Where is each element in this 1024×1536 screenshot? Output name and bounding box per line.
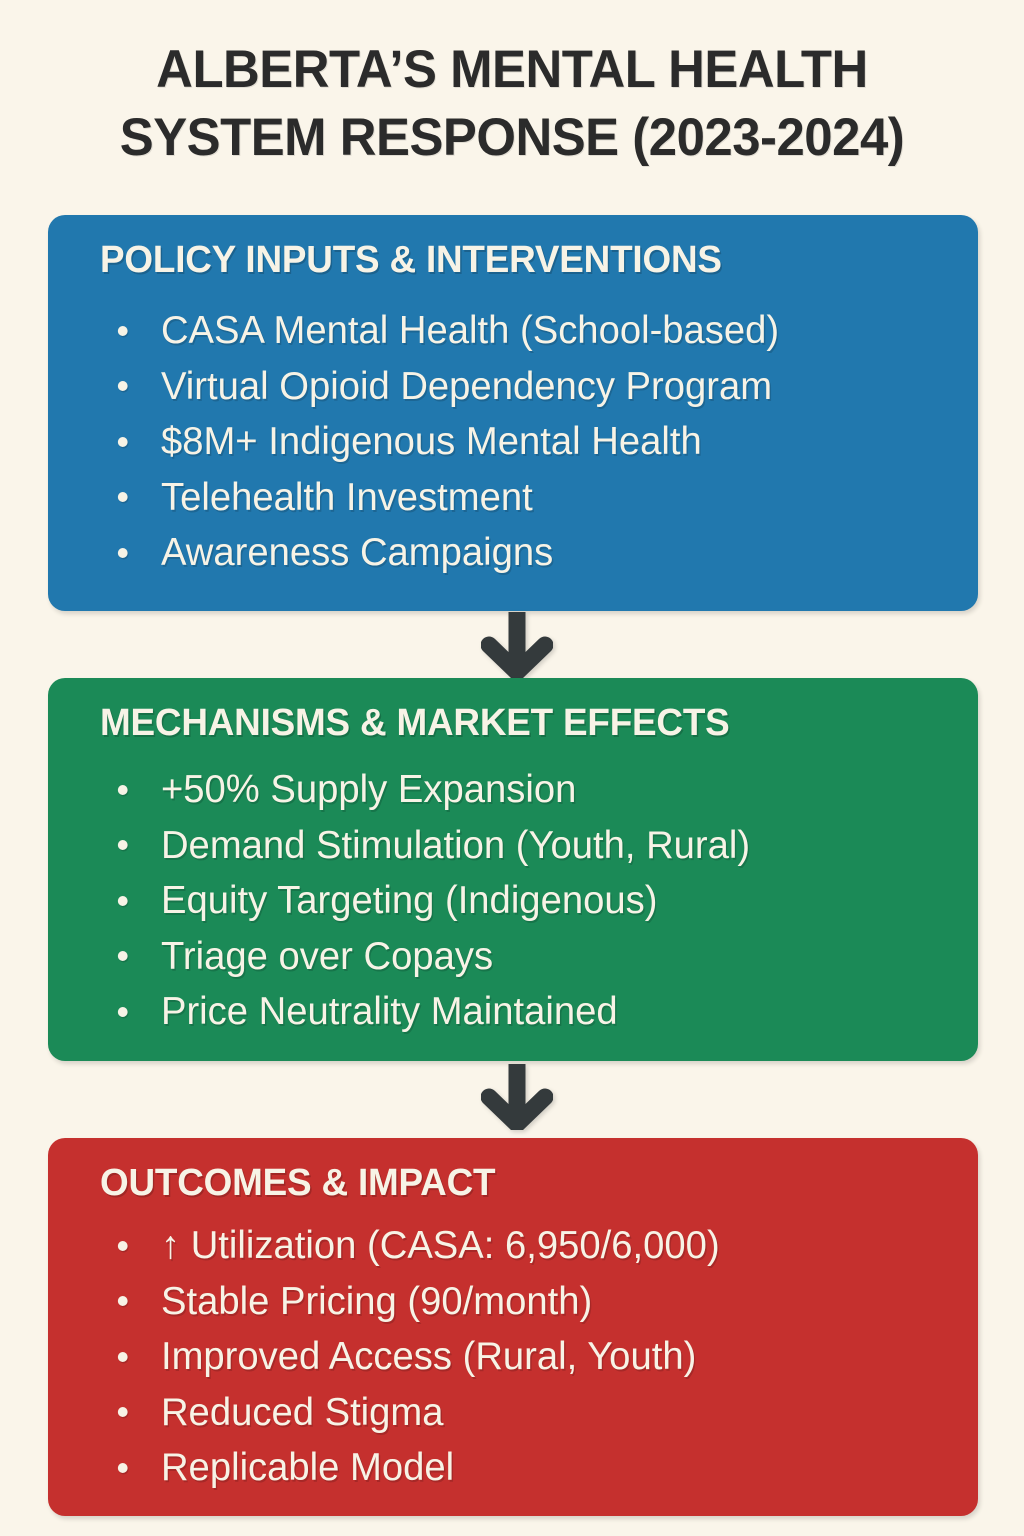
stage-header-mechanisms: MECHANISMS & MARKET EFFECTS xyxy=(100,704,730,742)
list-item: Virtual Opioid Dependency Program xyxy=(110,359,937,415)
stage-list-outcomes: ↑ Utilization (CASA: 6,950/6,000) Stable… xyxy=(110,1218,954,1496)
stage-box-outcomes: OUTCOMES & IMPACT ↑ Utilization (CASA: 6… xyxy=(48,1138,978,1516)
list-item-label: Reduced Stigma xyxy=(161,1391,444,1434)
list-item: Equity Targeting (Indigenous) xyxy=(110,873,937,929)
arrow-down-icon-policy-to-mechanisms xyxy=(481,612,553,678)
list-item-label: Demand Stimulation (Youth, Rural) xyxy=(161,824,750,867)
list-item-label: ↑ Utilization (CASA: 6,950/6,000) xyxy=(161,1224,720,1267)
list-item-label: Telehealth Investment xyxy=(161,476,533,519)
list-item: Replicable Model xyxy=(110,1440,937,1496)
bullet-dot-icon xyxy=(118,1352,128,1362)
bullet-dot-icon xyxy=(118,896,128,906)
bullet-dot-icon xyxy=(118,1463,128,1473)
bullet-dot-icon xyxy=(118,437,128,447)
list-item-label: Stable Pricing (90/month) xyxy=(161,1280,592,1323)
list-item-label: Awareness Campaigns xyxy=(161,531,553,574)
stage-list-policy-inputs: CASA Mental Health (School-based) Virtua… xyxy=(110,303,954,581)
list-item: Demand Stimulation (Youth, Rural) xyxy=(110,818,937,874)
list-item-label: Equity Targeting (Indigenous) xyxy=(161,879,657,922)
stage-header-policy-inputs: POLICY INPUTS & INTERVENTIONS xyxy=(100,241,722,279)
page-title-line-2: SYSTEM RESPONSE (2023-2024) xyxy=(20,104,1003,172)
list-item-label: +50% Supply Expansion xyxy=(161,768,576,811)
list-item-label: Price Neutrality Maintained xyxy=(161,990,618,1033)
bullet-dot-icon xyxy=(118,840,128,850)
bullet-dot-icon xyxy=(118,1296,128,1306)
stage-box-policy-inputs: POLICY INPUTS & INTERVENTIONS CASA Menta… xyxy=(48,215,978,611)
list-item: Reduced Stigma xyxy=(110,1385,937,1441)
bullet-dot-icon xyxy=(118,548,128,558)
bullet-dot-icon xyxy=(118,492,128,502)
list-item: ↑ Utilization (CASA: 6,950/6,000) xyxy=(110,1218,937,1274)
list-item: Telehealth Investment xyxy=(110,470,937,526)
list-item: Awareness Campaigns xyxy=(110,525,937,581)
list-item: Improved Access (Rural, Youth) xyxy=(110,1329,937,1385)
list-item: Price Neutrality Maintained xyxy=(110,984,937,1040)
page-title: ALBERTA’S MENTAL HEALTH SYSTEM RESPONSE … xyxy=(20,36,1003,173)
bullet-dot-icon xyxy=(118,1241,128,1251)
list-item: $8M+ Indigenous Mental Health xyxy=(110,414,937,470)
bullet-dot-icon xyxy=(118,381,128,391)
list-item-label: $8M+ Indigenous Mental Health xyxy=(161,420,702,463)
list-item: CASA Mental Health (School-based) xyxy=(110,303,937,359)
bullet-dot-icon xyxy=(118,1007,128,1017)
bullet-dot-icon xyxy=(118,1407,128,1417)
list-item-label: CASA Mental Health (School-based) xyxy=(161,309,779,352)
list-item: +50% Supply Expansion xyxy=(110,762,937,818)
page-title-line-1: ALBERTA’S MENTAL HEALTH xyxy=(20,36,1003,104)
list-item-label: Virtual Opioid Dependency Program xyxy=(161,365,772,408)
list-item: Triage over Copays xyxy=(110,929,937,985)
stage-list-mechanisms: +50% Supply Expansion Demand Stimulation… xyxy=(110,762,954,1040)
bullet-dot-icon xyxy=(118,785,128,795)
stage-header-outcomes: OUTCOMES & IMPACT xyxy=(100,1164,495,1202)
list-item-label: Replicable Model xyxy=(161,1446,454,1489)
stage-box-mechanisms: MECHANISMS & MARKET EFFECTS +50% Supply … xyxy=(48,678,978,1061)
bullet-dot-icon xyxy=(118,326,128,336)
arrow-down-icon-mechanisms-to-outcomes xyxy=(481,1064,553,1130)
list-item: Stable Pricing (90/month) xyxy=(110,1274,937,1330)
list-item-label: Improved Access (Rural, Youth) xyxy=(161,1335,696,1378)
list-item-label: Triage over Copays xyxy=(161,935,493,978)
bullet-dot-icon xyxy=(118,951,128,961)
